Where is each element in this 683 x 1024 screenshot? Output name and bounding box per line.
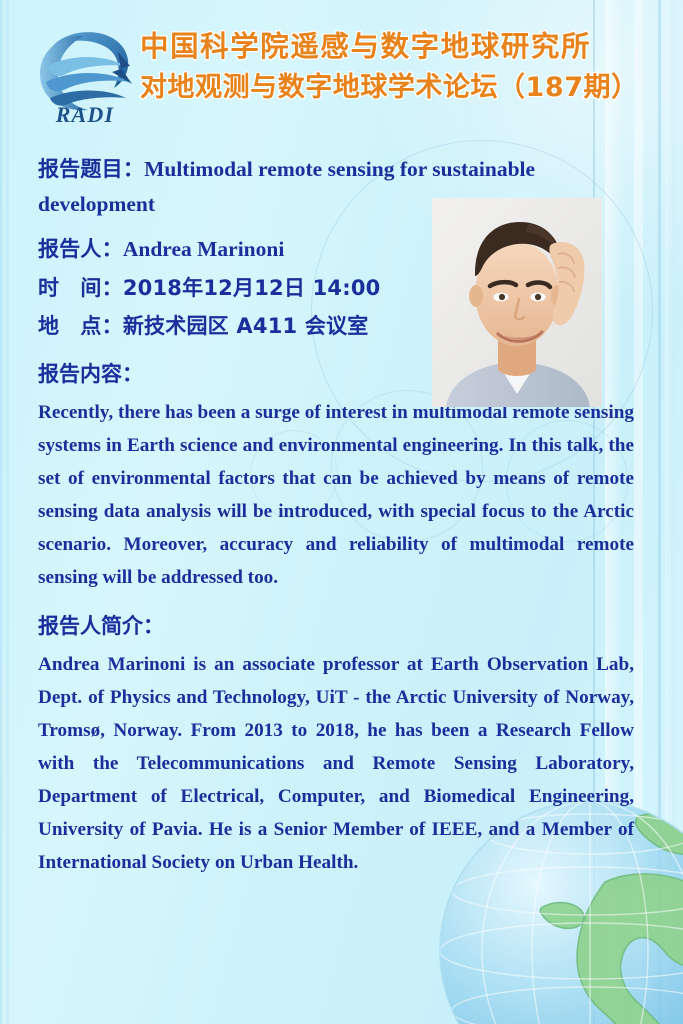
time-label: 时 间：: [38, 276, 123, 300]
poster-canvas: RADI 中国科学院遥感与数字地球研究所 对地观测与数字地球学术论坛（187期）: [0, 0, 683, 1024]
abstract-body: Recently, there has been a surge of inte…: [38, 396, 634, 594]
place-value: 新技术园区 A411 会议室: [123, 314, 369, 338]
talk-title-label: 报告题目：: [38, 157, 144, 181]
bio-heading: 报告人简介：: [38, 610, 634, 640]
place-label: 地 点：: [38, 314, 123, 338]
background-stripe-left-1: [0, 0, 4, 1024]
institute-title: 中国科学院遥感与数字地球研究所: [140, 28, 670, 65]
speaker-label: 报告人：: [38, 237, 123, 261]
poster-header: RADI 中国科学院遥感与数字地球研究所 对地观测与数字地球学术论坛（187期）: [0, 0, 683, 135]
svg-text:RADI: RADI: [55, 102, 115, 127]
background-stripe-left-2: [6, 0, 9, 1024]
forum-title: 对地观测与数字地球学术论坛（187期）: [140, 70, 670, 105]
speaker-value: Andrea Marinoni: [123, 237, 284, 261]
speaker-portrait-photo: [432, 198, 602, 407]
header-title-group: 中国科学院遥感与数字地球研究所 对地观测与数字地球学术论坛（187期）: [140, 28, 670, 105]
time-value: 2018年12月12日 14:00: [123, 276, 381, 300]
radi-logo: RADI: [26, 22, 144, 127]
bio-body: Andrea Marinoni is an associate professo…: [38, 648, 634, 879]
